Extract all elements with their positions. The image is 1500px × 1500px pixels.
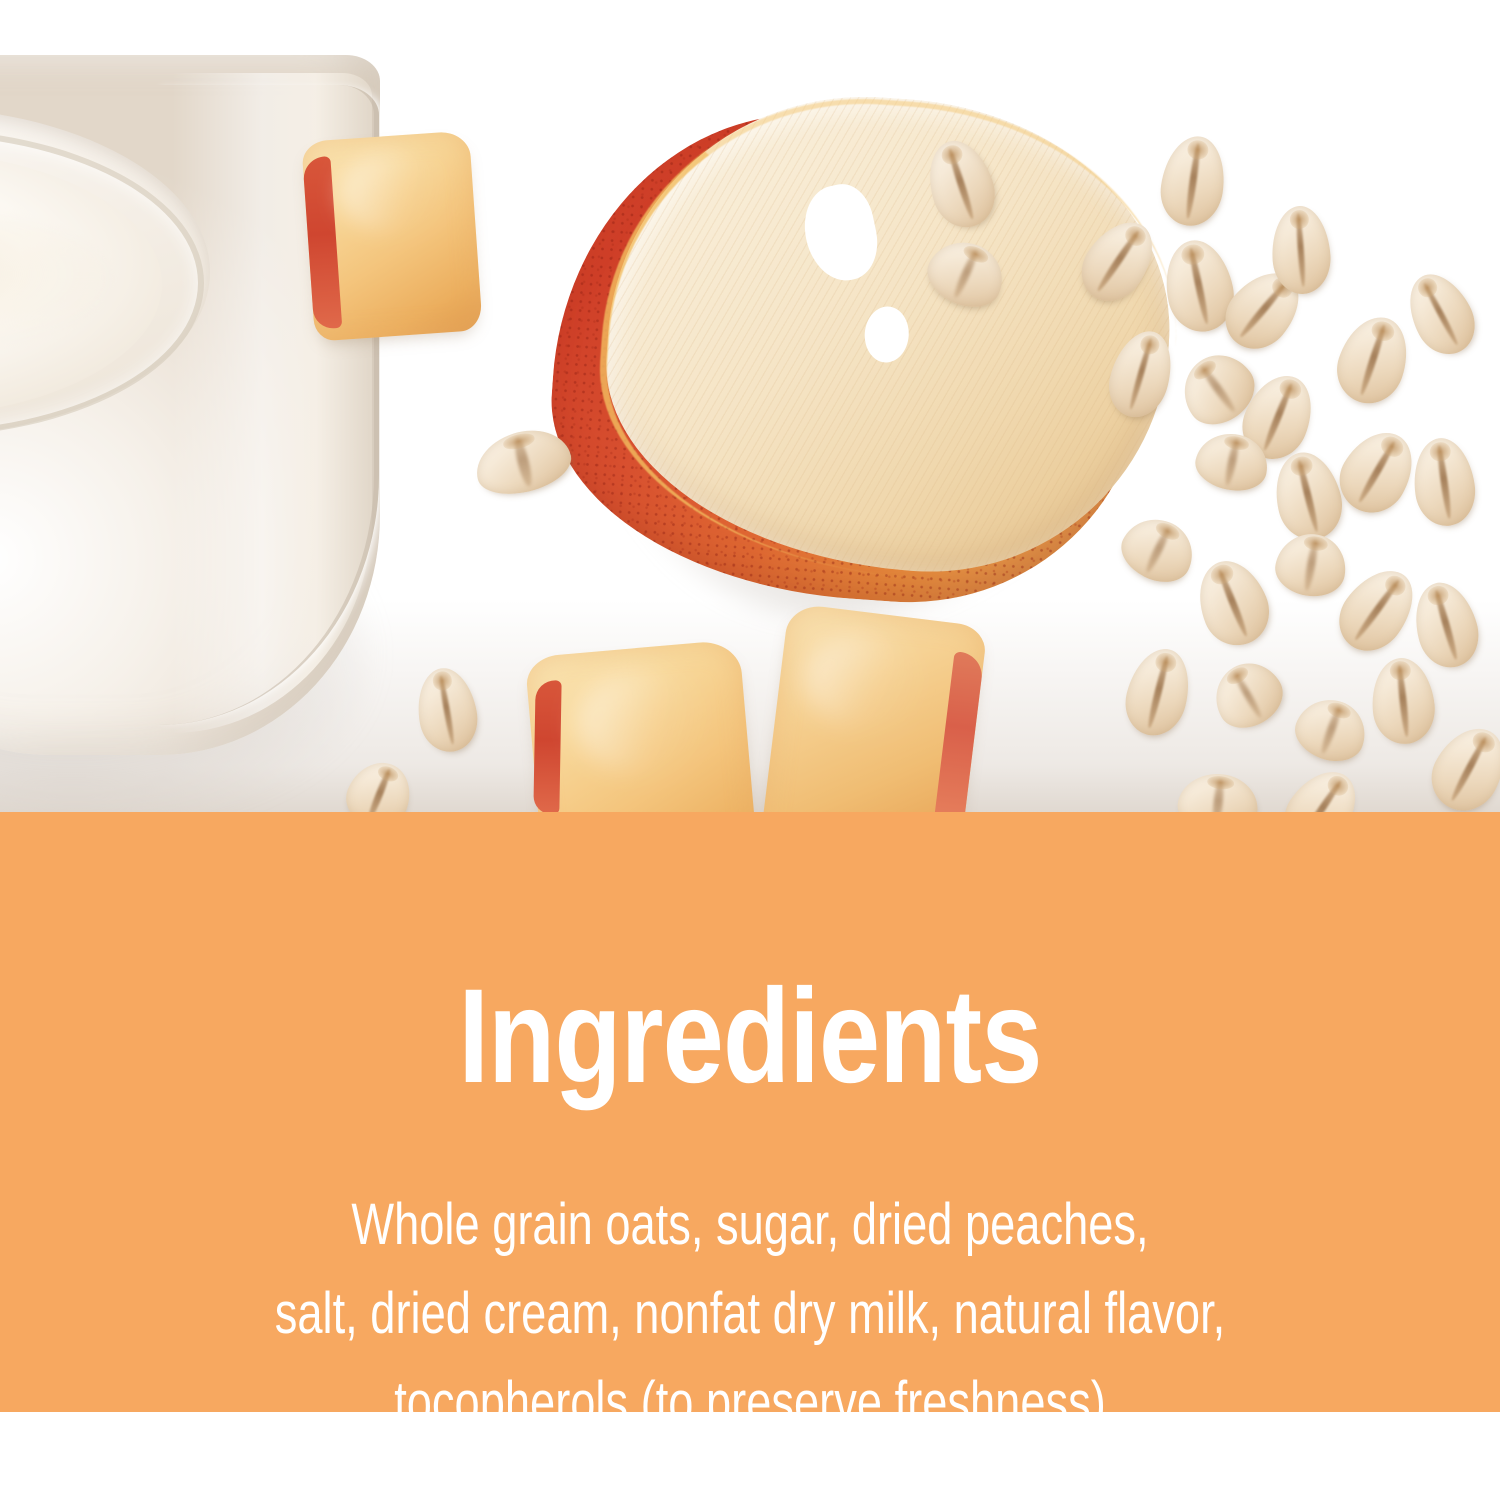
oat-flake bbox=[1396, 263, 1487, 364]
peach-cube-1 bbox=[301, 130, 483, 341]
ingredients-line-1: Whole grain oats, sugar, dried peaches, bbox=[165, 1180, 1335, 1269]
peach-cube-skin bbox=[533, 680, 561, 812]
ingredients-heading: Ingredients bbox=[135, 970, 1365, 1104]
oat-flake bbox=[1271, 528, 1351, 601]
oat-flake bbox=[1408, 434, 1480, 529]
oat-flake bbox=[1328, 308, 1418, 412]
peach-cube-2 bbox=[525, 639, 761, 812]
product-ingredients-image: Ingredients Whole grain oats, sugar, dri… bbox=[0, 0, 1500, 1500]
ingredients-line-2: salt, dried cream, nonfat dry milk, natu… bbox=[165, 1269, 1335, 1358]
ingredients-text: Whole grain oats, sugar, dried peaches, … bbox=[0, 1180, 1500, 1447]
oat-flake bbox=[1327, 419, 1426, 525]
peach-slice bbox=[528, 87, 1171, 628]
food-photo bbox=[0, 0, 1500, 812]
ingredients-panel: Ingredients Whole grain oats, sugar, dri… bbox=[0, 812, 1500, 1412]
bottom-white-strip bbox=[0, 1412, 1500, 1500]
peach-cube-3 bbox=[758, 603, 988, 812]
oat-flake bbox=[1266, 446, 1349, 547]
